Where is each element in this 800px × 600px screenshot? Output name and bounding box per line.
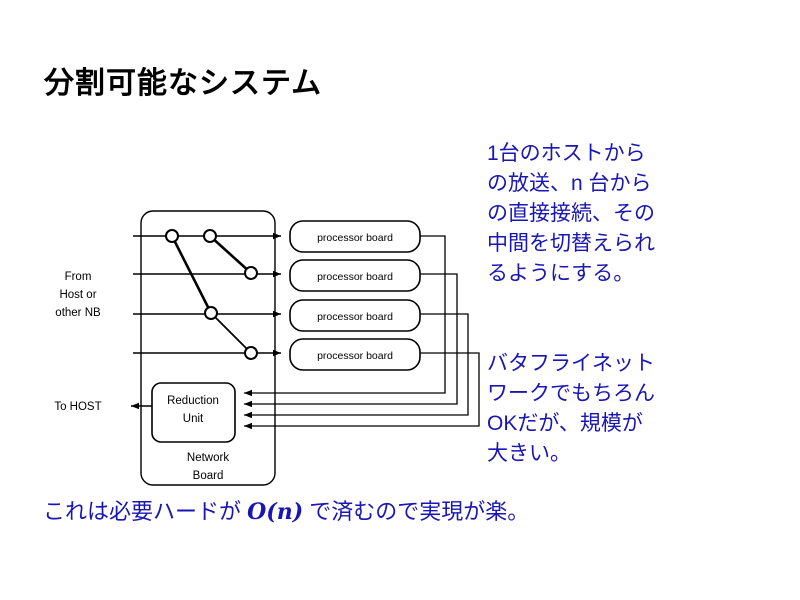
crossbar-connectors-thin	[211, 313, 251, 353]
input-source-label-line3: other NB	[55, 307, 101, 319]
crossbar-link-c	[211, 313, 251, 353]
switch-node-3[interactable]	[245, 267, 257, 279]
body-paragraph-1: 1台のホストから の放送、n 台から の直接接続、その 中間を切替えられ るよう…	[487, 139, 787, 289]
processor-board-label-2: processor board	[317, 271, 393, 283]
network-board-label-line2: Board	[193, 470, 224, 482]
feedback-line-3	[244, 314, 468, 415]
crossbar-link-b	[210, 236, 251, 273]
input-source-label-line2: Host or	[59, 289, 96, 301]
processor-board-label-4: processor board	[317, 350, 393, 362]
input-lines	[133, 236, 281, 353]
reduction-unit-label-line1: Reduction	[167, 395, 219, 407]
processor-board-label-1: processor board	[317, 232, 393, 244]
network-board-label-line1: Network	[187, 452, 229, 464]
bottom-line-suffix: で済むので実現が楽。	[303, 499, 529, 524]
presentation-slide: 分割可能なシステム	[0, 0, 800, 600]
switch-node-2[interactable]	[204, 230, 216, 242]
body-bottom-line: これは必要ハードが O(n) で済むので実現が楽。	[43, 497, 783, 527]
bottom-line-prefix: これは必要ハードが	[43, 499, 247, 524]
processor-board-label-3: processor board	[317, 311, 393, 323]
output-destination-label: To HOST	[54, 401, 101, 413]
switch-node-4[interactable]	[205, 307, 217, 319]
switch-node-1[interactable]	[166, 230, 178, 242]
bottom-line-complexity: O(n)	[247, 499, 303, 525]
switch-node-5[interactable]	[245, 347, 257, 359]
reduction-unit-label-line2: Unit	[183, 413, 204, 425]
input-source-label-line1: From	[65, 271, 92, 283]
body-paragraph-2: バタフライネット ワークでもちろん OKだが、規模が 大きい。	[487, 349, 787, 469]
